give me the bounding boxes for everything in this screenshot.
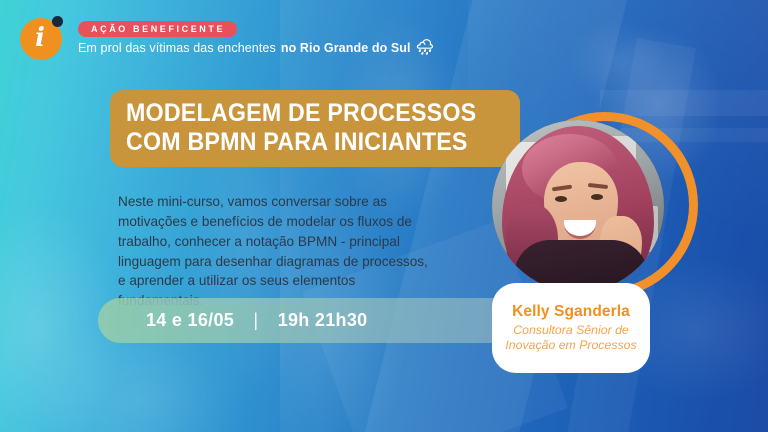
avatar-eye-left (555, 196, 567, 202)
schedule-dates: 14 e 16/05 (146, 310, 234, 330)
brand-logo: i (18, 14, 66, 62)
banner-header: i AÇÃO BENEFICENTE Em prol das vítimas d… (18, 14, 435, 62)
logo-dot-icon (52, 16, 63, 27)
speaker-name: Kelly Sganderla (512, 303, 630, 321)
tagline-regular-text: Em prol das vítimas das enchentes (78, 41, 276, 55)
avatar-illustration (492, 120, 664, 292)
avatar-eye-right (591, 194, 603, 200)
speaker-avatar (492, 120, 664, 292)
course-title-line-1: MODELAGEM DE PROCESSOS (126, 99, 476, 128)
charity-badge: AÇÃO BENEFICENTE (78, 21, 237, 37)
charity-tagline: Em prol das vítimas das enchentes no Rio… (78, 40, 435, 55)
course-title-plate: MODELAGEM DE PROCESSOS COM BPMN PARA INI… (110, 90, 520, 167)
speaker-role-line-2: Inovação em Processos (505, 338, 636, 353)
course-title-line-2: COM BPMN PARA INICIANTES (126, 128, 476, 157)
header-text-group: AÇÃO BENEFICENTE Em prol das vítimas das… (78, 21, 435, 55)
course-description: Neste mini-curso, vamos conversar sobre … (118, 192, 436, 312)
speaker-role-line-1: Consultora Sênior de (513, 323, 629, 338)
tagline-bold-text: no Rio Grande do Sul (281, 41, 411, 55)
schedule-text: 14 e 16/05 | 19h 21h30 (146, 310, 367, 331)
schedule-times: 19h 21h30 (278, 310, 368, 330)
webinar-promo-banner: i AÇÃO BENEFICENTE Em prol das vítimas d… (0, 0, 768, 432)
speaker-info-card: Kelly Sganderla Consultora Sênior de Ino… (492, 283, 650, 373)
schedule-bar: 14 e 16/05 | 19h 21h30 (98, 298, 558, 343)
rain-cloud-icon: 🌧 (416, 40, 435, 55)
schedule-separator: | (253, 310, 258, 331)
